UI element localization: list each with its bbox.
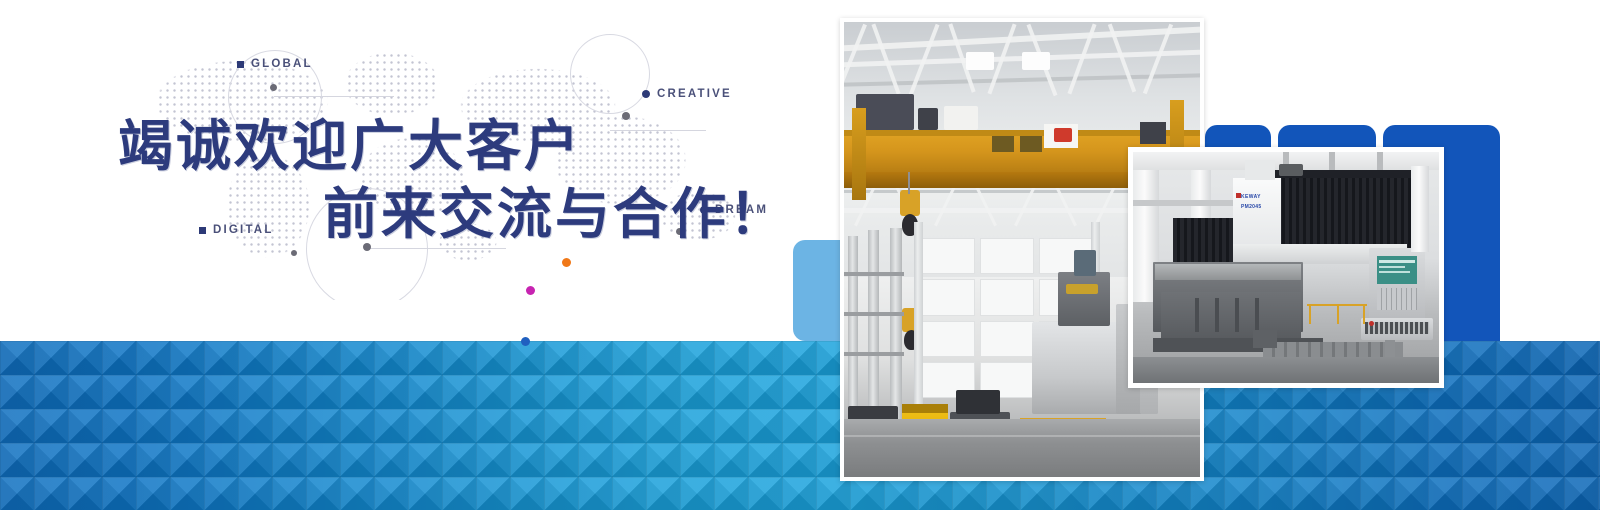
orange-accent-dot bbox=[562, 258, 571, 267]
machine-label-plate bbox=[1066, 284, 1098, 294]
blue-accent-dot bbox=[521, 337, 530, 346]
cnc-emergency-stop-button[interactable] bbox=[1369, 321, 1374, 326]
map-connector-line-2 bbox=[366, 248, 506, 249]
machine-head bbox=[1058, 272, 1110, 326]
rack-post-3 bbox=[890, 228, 902, 420]
crane-hook-block bbox=[900, 190, 920, 216]
map-node-dot-1 bbox=[270, 84, 277, 91]
map-label-text: GLOBAL bbox=[251, 58, 313, 70]
headline-line-1: 竭诚欢迎广大客户 bbox=[118, 113, 582, 178]
round-bullet-icon bbox=[642, 90, 650, 98]
dark-machine-upper bbox=[956, 390, 1000, 414]
cnc-crossbeam-bellows bbox=[1271, 174, 1427, 248]
map-label-text: CREATIVE bbox=[657, 88, 732, 100]
map-label-creative: CREATIVE bbox=[642, 88, 732, 100]
map-label-global: GLOBAL bbox=[237, 58, 313, 70]
cnc-gantry-machine-photo-content: KEWAY PM2045 bbox=[1133, 152, 1439, 383]
cnc-gantry-machine-photo[interactable]: KEWAY PM2045 bbox=[1128, 147, 1444, 388]
map-ring-3 bbox=[570, 34, 650, 114]
headline-line-2: 前来交流与合作！ bbox=[118, 180, 787, 248]
banner-headline: 竭诚欢迎广大客户 前来交流与合作！ bbox=[118, 112, 787, 248]
rack-post-1 bbox=[848, 236, 858, 416]
cnc-machine-bed bbox=[1161, 292, 1301, 340]
crane-end-post-left bbox=[852, 108, 866, 200]
map-connector-line-1 bbox=[274, 96, 394, 97]
magenta-accent-dot bbox=[526, 286, 535, 295]
cnc-shop-floor bbox=[1133, 357, 1439, 383]
cnc-brand-mark bbox=[1236, 193, 1241, 198]
cnc-model-label: PM2045 bbox=[1241, 204, 1261, 210]
cnc-brand-label: KEWAY bbox=[1241, 194, 1261, 200]
workshop-floor bbox=[844, 419, 1200, 477]
machine-column bbox=[1074, 250, 1096, 276]
map-node-dot-5 bbox=[291, 250, 297, 256]
square-bullet-icon bbox=[237, 61, 244, 68]
promo-banner: GLOBAL CREATIVE DIGITAL DREAM 竭诚欢迎广大客户 前… bbox=[0, 0, 1600, 510]
window-column-1 bbox=[914, 222, 923, 412]
cnc-bg-column-3 bbox=[1411, 166, 1429, 252]
cnc-keypad[interactable] bbox=[1377, 288, 1417, 310]
rack-post-2 bbox=[868, 230, 879, 420]
